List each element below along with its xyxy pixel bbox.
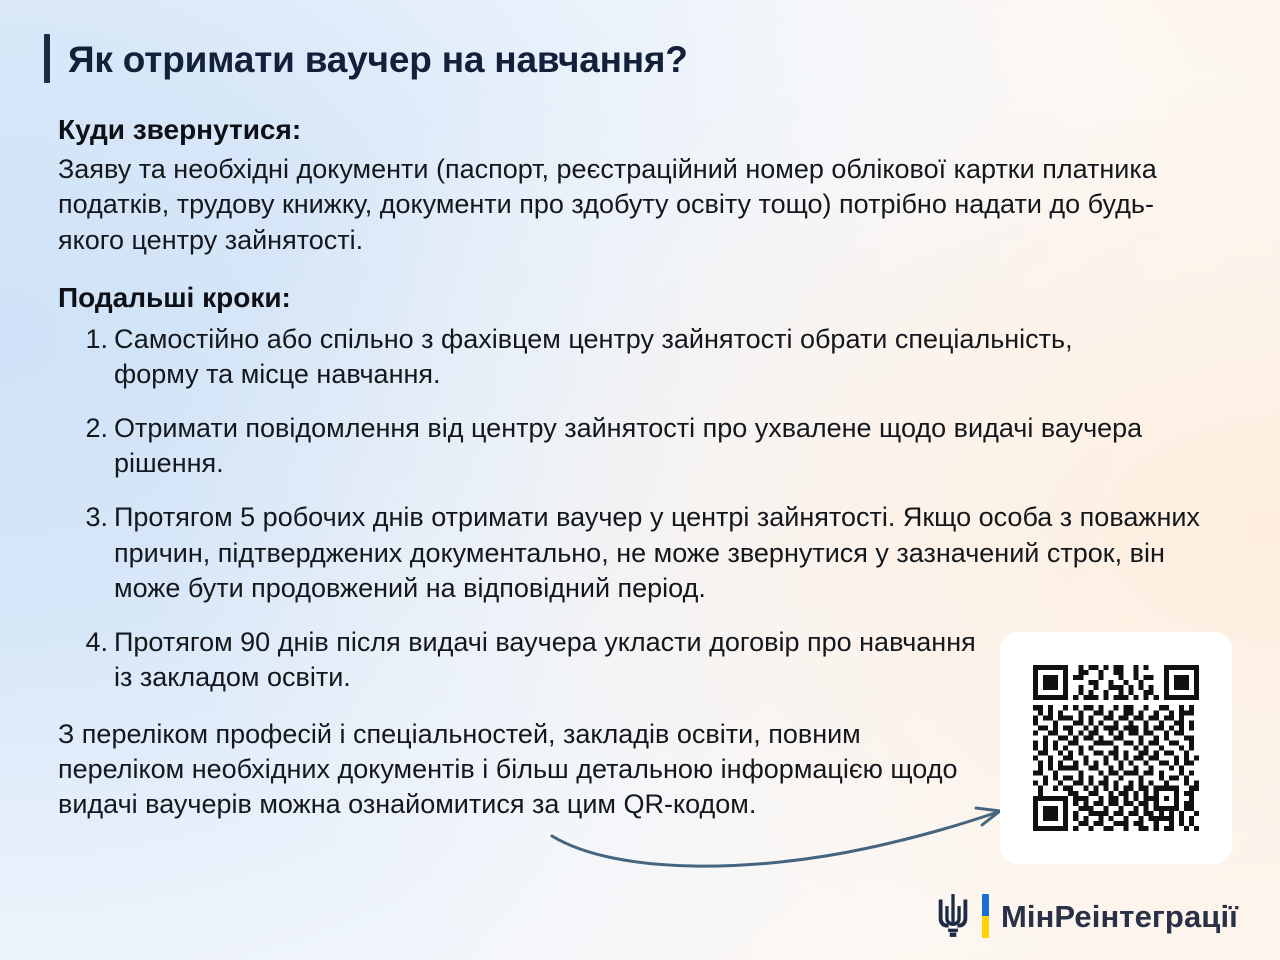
where-to-apply-text: Заяву та необхідні документи (паспорт, р…: [58, 152, 1203, 257]
page-title: Як отримати ваучер на навчання?: [44, 34, 688, 83]
step-text: Самостійно або спільно з фахівцем центру…: [114, 322, 1134, 392]
step-text: Отримати повідомлення від центру зайнято…: [114, 411, 1214, 481]
list-item: Самостійно або спільно з фахівцем центру…: [58, 322, 1238, 392]
list-item: Протягом 5 робочих днів отримати ваучер …: [58, 500, 1238, 605]
next-steps-heading: Подальші кроки:: [58, 280, 1238, 316]
section-where-to-apply: Куди звернутися: Заяву та необхідні доку…: [58, 112, 1238, 258]
slide-root: Як отримати ваучер на навчання? Куди зве…: [0, 0, 1280, 960]
qr-code-card[interactable]: [1000, 632, 1232, 864]
footer-logo: МінРеінтеграції: [936, 894, 1238, 938]
where-to-apply-heading: Куди звернутися:: [58, 112, 1238, 148]
trident-icon: [936, 894, 970, 938]
qr-code-icon[interactable]: [1033, 665, 1199, 831]
logo-text: МінРеінтеграції: [1001, 901, 1238, 932]
closing-text: З переліком професій і спеціальностей, з…: [58, 717, 963, 822]
step-text: Протягом 90 днів після видачі ваучера ук…: [114, 625, 994, 695]
list-item: Отримати повідомлення від центру зайнято…: [58, 411, 1238, 481]
flag-bar-icon: [982, 894, 989, 938]
title-accent-bar: [44, 34, 50, 83]
page-title-text: Як отримати ваучер на навчання?: [68, 34, 688, 83]
step-text: Протягом 5 робочих днів отримати ваучер …: [114, 500, 1224, 605]
